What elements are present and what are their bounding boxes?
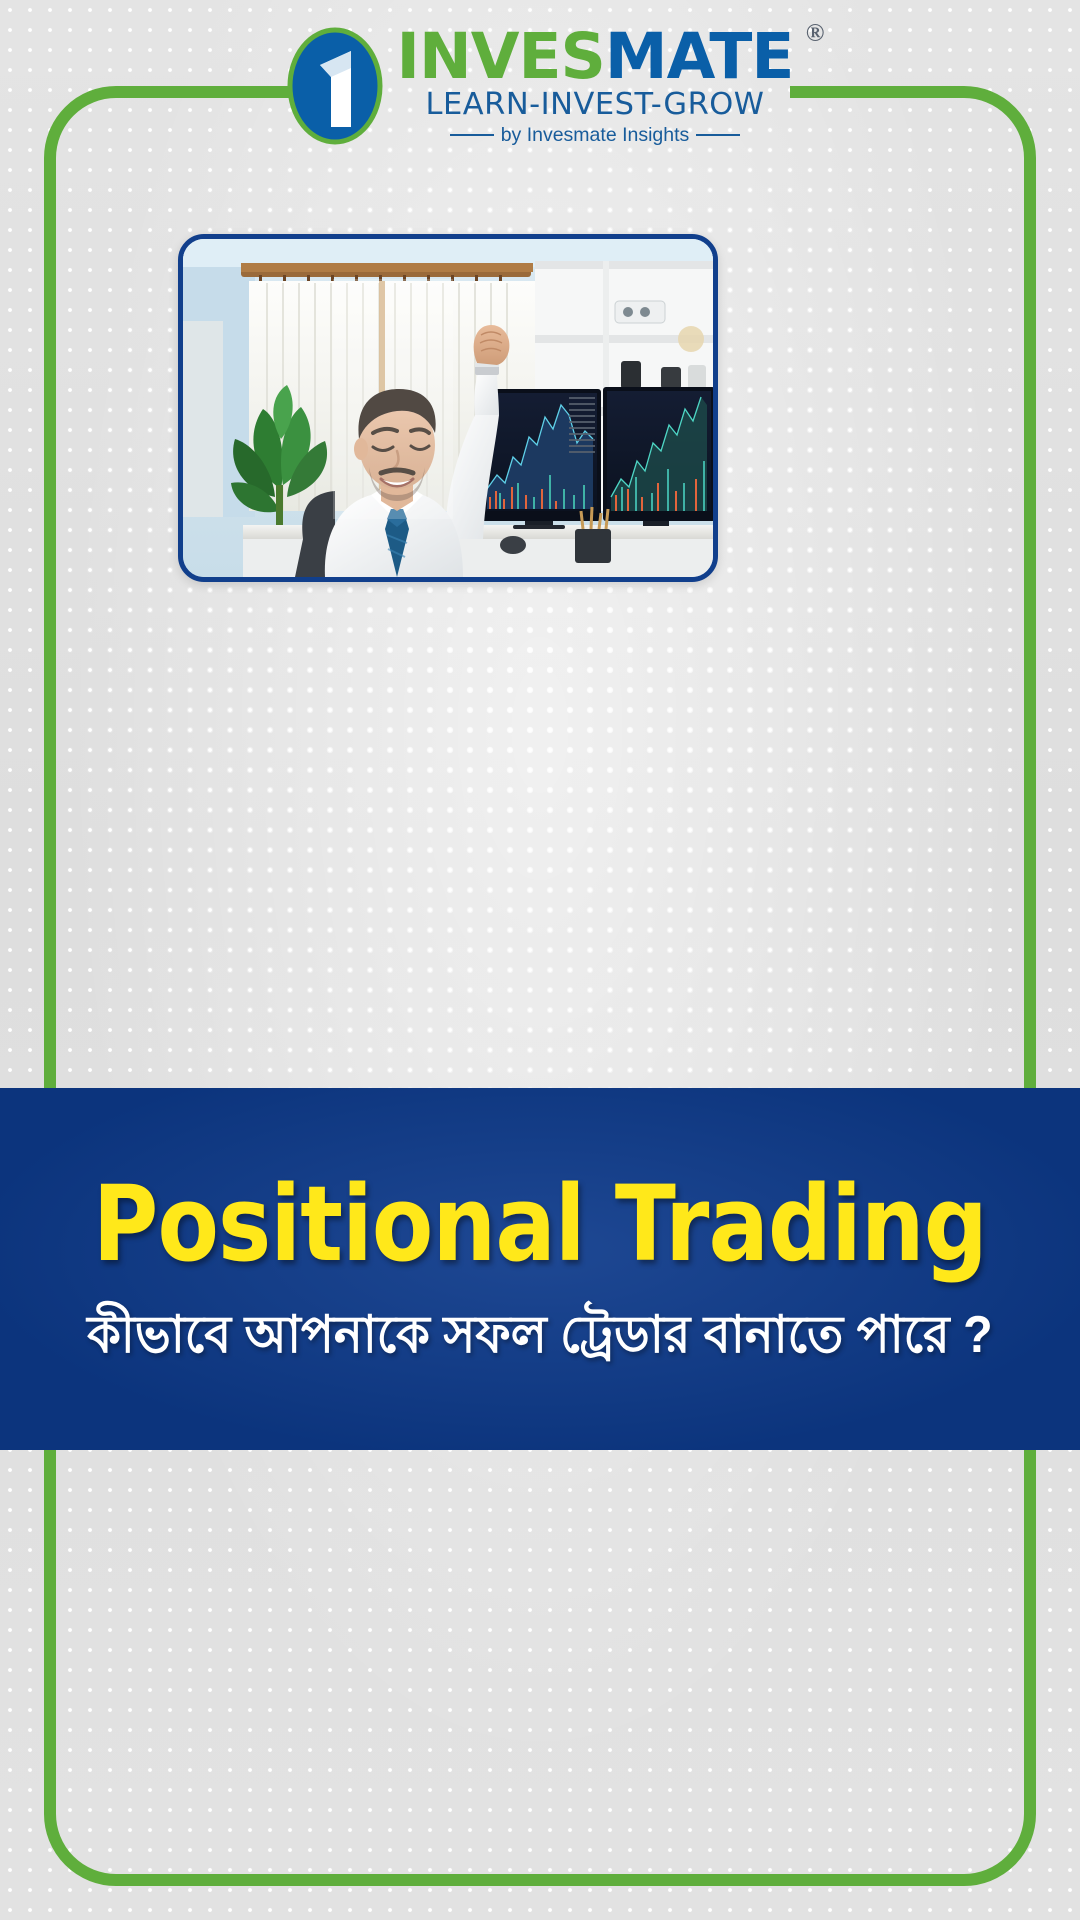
byline-rule-left	[450, 134, 494, 136]
brand-name-part1: INVES	[397, 20, 605, 93]
brand-byline-row: by Invesmate Insights	[397, 124, 794, 147]
celebrating-trader-photo	[178, 234, 718, 582]
page-title: Positional Trading	[93, 1172, 987, 1276]
registered-trademark-icon: ®	[806, 22, 824, 45]
brand-name-part2: MATE	[605, 20, 794, 93]
brand-wordmark: INVESMATE ®	[397, 28, 794, 86]
invesmate-i-mark-icon	[287, 27, 383, 145]
brand-byline: by Invesmate Insights	[501, 124, 690, 147]
brand-logo: INVESMATE ® LEARN-INVEST-GROW by Invesma…	[0, 26, 1080, 147]
byline-rule-right	[696, 134, 740, 136]
page-subtitle: কীভাবে আপনাকে সফল ট্রেডার বানাতে পারে ?	[87, 1306, 993, 1366]
title-banner: Positional Trading কীভাবে আপনাকে সফল ট্র…	[0, 1088, 1080, 1450]
brand-tagline: LEARN-INVEST-GROW	[397, 87, 794, 122]
